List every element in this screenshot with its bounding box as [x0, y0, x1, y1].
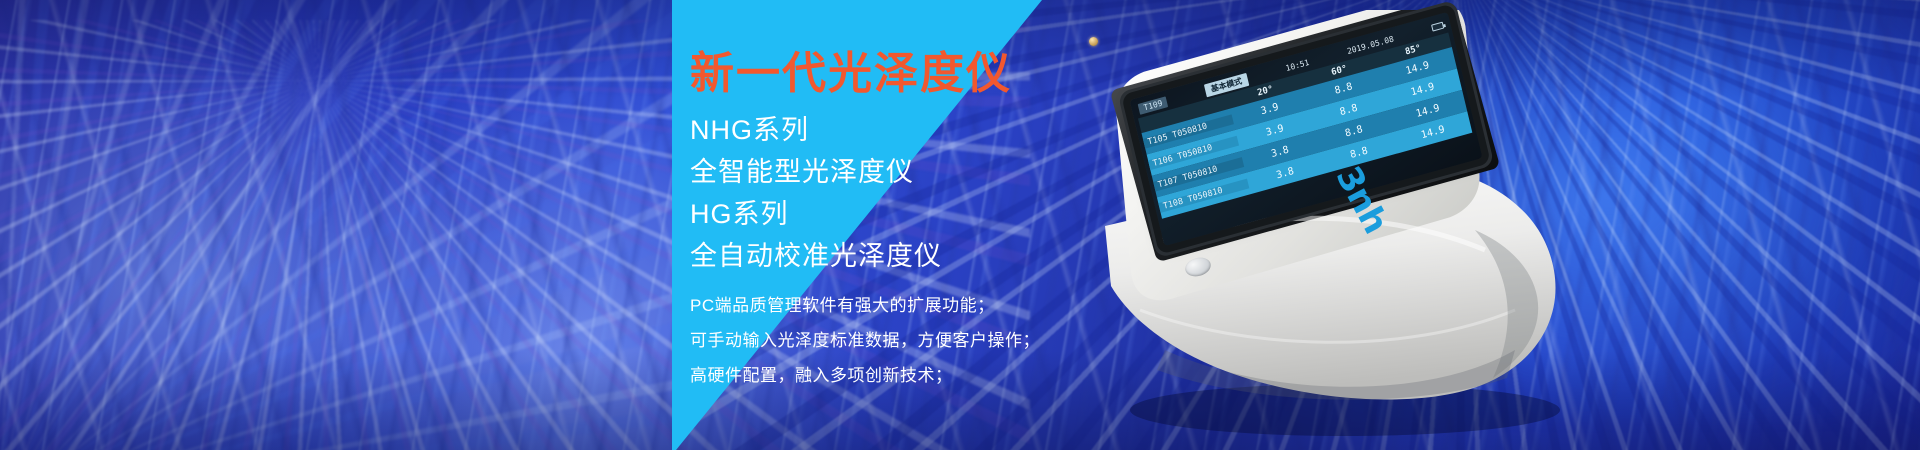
indicator-led	[1089, 37, 1098, 46]
subtitle-line-2: 全智能型光泽度仪	[690, 159, 914, 186]
promo-banner: 新一代光泽度仪 NHG系列 全智能型光泽度仪 HG系列 全自动校准光泽度仪 PC…	[0, 0, 1920, 450]
subtitle-line-4: 全自动校准光泽度仪	[690, 243, 942, 270]
feature-line-2: 可手动输入光泽度标准数据，方便客户操作；	[690, 332, 1040, 349]
feature-line-3: 高硬件配置，融入多项创新技术；	[690, 367, 953, 384]
subtitle-line-3: HG系列	[690, 201, 789, 228]
headline: 新一代光泽度仪	[690, 52, 1012, 96]
subtitle-line-1: NHG系列	[690, 117, 809, 144]
feature-line-1: PC端品质管理软件有强大的扩展功能；	[690, 297, 995, 314]
gloss-meter-device: T109 基本模式 10:51 2019.05.08 20° 60° 85° T…	[1045, 10, 1605, 440]
battery-icon	[1431, 22, 1444, 32]
